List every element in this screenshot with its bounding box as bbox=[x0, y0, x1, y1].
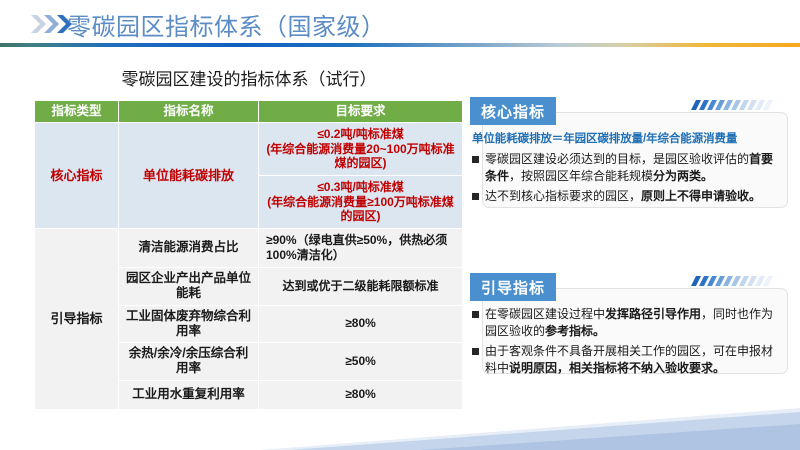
cell-requirement: 达到或优于二级能耗限额标准 bbox=[259, 268, 463, 306]
table-row: 引导指标 清洁能源消费占比 ≥90%（绿电直供≥50%，供热必须100%清洁化） bbox=[35, 229, 463, 268]
text-part: 零碳园区建设必须达到的目标，是园区验收评估的 bbox=[485, 152, 749, 166]
column-header-requirement: 目标要求 bbox=[259, 101, 463, 123]
cell-indicator-name: 余热/余冷/余压综合利用率 bbox=[119, 343, 259, 381]
cell-indicator-type: 引导指标 bbox=[35, 229, 119, 410]
square-bullet-icon bbox=[472, 348, 479, 355]
indicator-table: 指标类型 指标名称 目标要求 核心指标 单位能耗碳排放 ≤0.2吨/吨标准煤 (… bbox=[34, 100, 463, 410]
cell-requirement: ≤0.2吨/吨标准煤 (年综合能源消费量20~100万吨标准煤的园区) bbox=[259, 123, 463, 176]
text-part-bold: 原则上不得申请验收。 bbox=[641, 189, 761, 203]
column-header-type: 指标类型 bbox=[35, 101, 119, 123]
text-part-bold: 发挥路径引导作用 bbox=[605, 307, 701, 321]
column-header-name: 指标名称 bbox=[119, 101, 259, 123]
page-title: 零碳园区指标体系（国家级） bbox=[67, 7, 386, 42]
cell-indicator-name: 清洁能源消费占比 bbox=[119, 229, 259, 268]
square-bullet-icon bbox=[472, 311, 479, 318]
guide-card-body: 在零碳园区建设过程中发挥路径引导作用，同时也作为园区验收的参考指标。 由于客观条… bbox=[470, 306, 788, 380]
core-card-body: 单位能耗碳排放＝年园区碳排放量/年综合能源消费量 零碳园区建设必须达到的目标，是… bbox=[470, 130, 788, 208]
dashed-accent-icon bbox=[688, 100, 784, 111]
list-item-text: 在零碳园区建设过程中发挥路径引导作用，同时也作为园区验收的参考指标。 bbox=[485, 306, 782, 340]
text-part-bold: 分为两类。 bbox=[653, 169, 713, 183]
text-part: ，按照园区年综合能耗规模 bbox=[509, 169, 653, 183]
core-formula: 单位能耗碳排放＝年园区碳排放量/年综合能源消费量 bbox=[472, 130, 782, 146]
cell-requirement: ≥90%（绿电直供≥50%，供热必须100%清洁化） bbox=[259, 229, 463, 268]
list-item: 达不到核心指标要求的园区，原则上不得申请验收。 bbox=[472, 188, 782, 205]
cell-requirement: ≥50% bbox=[259, 343, 463, 381]
text-part: 达不到核心指标要求的园区， bbox=[485, 189, 641, 203]
list-item-text: 达不到核心指标要求的园区，原则上不得申请验收。 bbox=[485, 188, 782, 205]
square-bullet-icon bbox=[472, 156, 479, 163]
cell-indicator-name: 单位能耗碳排放 bbox=[119, 123, 259, 229]
dashed-accent-icon bbox=[688, 276, 784, 287]
requirement-main: ≤0.3吨/吨标准煤 bbox=[317, 180, 404, 194]
square-bullet-icon bbox=[472, 193, 479, 200]
bottom-wave-decoration bbox=[0, 402, 800, 450]
list-item: 在零碳园区建设过程中发挥路径引导作用，同时也作为园区验收的参考指标。 bbox=[472, 306, 782, 340]
list-item-text: 由于客观条件不具备开展相关工作的园区，可在申报材料中说明原因，相关指标将不纳入验… bbox=[485, 343, 782, 377]
text-part-bold: 参考指标。 bbox=[545, 324, 605, 338]
chevron-1-icon bbox=[31, 15, 46, 33]
core-card-tab: 核心指标 bbox=[470, 97, 556, 125]
guide-card-tab: 引导指标 bbox=[470, 273, 556, 301]
cell-indicator-name: 园区企业产出产品单位能耗 bbox=[119, 268, 259, 306]
text-part-bold: 说明原因，相关指标将不纳入验收要求。 bbox=[509, 361, 725, 375]
text-part: 在零碳园区建设过程中 bbox=[485, 307, 605, 321]
page-header: 零碳园区指标体系（国家级） bbox=[0, 0, 800, 46]
requirement-sub: (年综合能源消费量20~100万吨标准煤的园区) bbox=[263, 142, 458, 171]
cell-indicator-name: 工业固体废弃物综合利用率 bbox=[119, 305, 259, 343]
cell-requirement: ≥80% bbox=[259, 305, 463, 343]
requirement-main: ≤0.2吨/吨标准煤 bbox=[317, 127, 404, 141]
cell-indicator-type: 核心指标 bbox=[35, 123, 119, 229]
list-item: 零碳园区建设必须达到的目标，是园区验收评估的首要条件，按照园区年综合能耗规模分为… bbox=[472, 151, 782, 185]
title-divider bbox=[0, 43, 800, 47]
list-item: 由于客观条件不具备开展相关工作的园区，可在申报材料中说明原因，相关指标将不纳入验… bbox=[472, 343, 782, 377]
requirement-sub: (年综合能源消费量≥100万吨标准煤的园区) bbox=[263, 195, 458, 224]
cell-requirement: ≤0.3吨/吨标准煤 (年综合能源消费量≥100万吨标准煤的园区) bbox=[259, 176, 463, 229]
table-heading: 零碳园区建设的指标体系（试行） bbox=[34, 65, 464, 90]
list-item-text: 零碳园区建设必须达到的目标，是园区验收评估的首要条件，按照园区年综合能耗规模分为… bbox=[485, 151, 782, 185]
table-header-row: 指标类型 指标名称 目标要求 bbox=[35, 101, 463, 123]
table-row: 核心指标 单位能耗碳排放 ≤0.2吨/吨标准煤 (年综合能源消费量20~100万… bbox=[35, 123, 463, 176]
chevron-2-icon bbox=[44, 15, 59, 33]
